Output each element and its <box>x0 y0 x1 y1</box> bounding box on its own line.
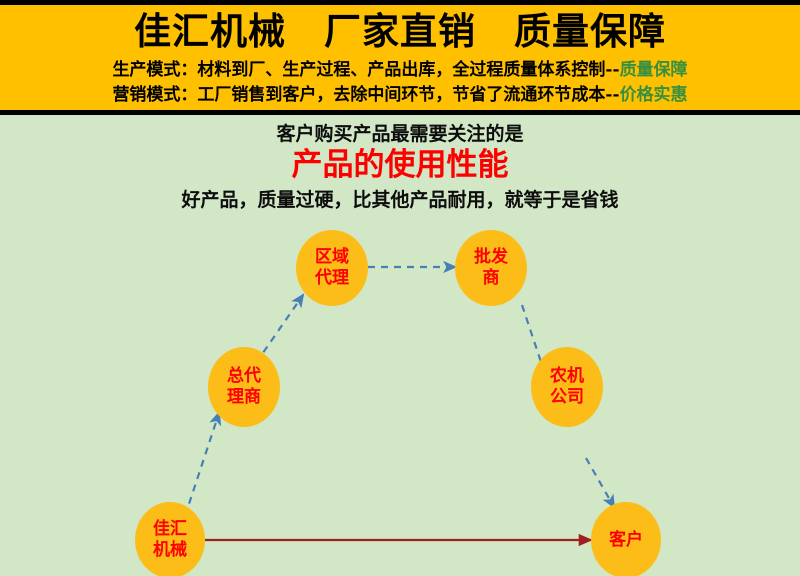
sub-line: 好产品，质量过硬，比其他产品耐用，就等于是省钱 <box>0 188 800 213</box>
node-jiahui-machine[interactable]: 佳汇 机械 <box>135 502 205 576</box>
node-jiahui-machine-line1: 佳汇 <box>153 519 187 540</box>
header-banner: 佳汇机械 厂家直销 质量保障 生产模式：材料到厂、生产过程、产品出库，全过程质量… <box>0 0 800 115</box>
banner-subtitle-marketing-main: 营销模式：工厂销售到客户，去除中间环节，节省了流通环节成本-- <box>112 85 619 105</box>
banner-subtitle-production-main: 生产模式：材料到厂、生产过程、产品出库，全过程质量体系控制-- <box>112 60 619 80</box>
node-general-agent-line2: 理商 <box>227 387 261 408</box>
banner-subtitle-production-accent: 质量保障 <box>620 60 688 80</box>
node-regional-agent[interactable]: 区域 代理 <box>296 230 368 306</box>
banner-subtitle-production: 生产模式：材料到厂、生产过程、产品出库，全过程质量体系控制--质量保障 <box>0 59 800 81</box>
node-machinery-co[interactable]: 农机 公司 <box>531 347 603 427</box>
node-jiahui-machine-line2: 机械 <box>153 540 187 561</box>
edge-jiahui-to-general-agent <box>185 413 219 516</box>
node-wholesaler[interactable]: 批发 商 <box>455 230 527 306</box>
banner-subtitle-marketing: 营销模式：工厂销售到客户，去除中间环节，节省了流通环节成本--价格实惠 <box>0 84 800 106</box>
banner-subtitle-marketing-accent: 价格实惠 <box>620 85 688 105</box>
distribution-chain-diagram: 性价比 区域 代理 批发 商 总代 理商 农机 公司 佳汇 机械 客户 直接到客… <box>0 215 800 576</box>
diagram-edges <box>0 215 800 576</box>
highlight-line: 产品的使用性能 <box>0 146 800 184</box>
lead-line: 客户购买产品最需要关注的是 <box>0 122 800 146</box>
edge-machinery-co-to-customer <box>586 458 614 507</box>
node-regional-agent-line1: 区域 <box>315 247 349 268</box>
node-customer-line1: 客户 <box>609 530 643 551</box>
node-wholesaler-line2: 商 <box>483 268 500 289</box>
node-customer[interactable]: 客户 <box>591 502 661 576</box>
node-general-agent[interactable]: 总代 理商 <box>208 347 280 427</box>
node-machinery-co-line1: 农机 <box>550 366 584 387</box>
node-general-agent-line1: 总代 <box>227 366 261 387</box>
poster-page: 佳汇机械 厂家直销 质量保障 生产模式：材料到厂、生产过程、产品出库，全过程质量… <box>0 0 800 576</box>
node-wholesaler-line1: 批发 <box>474 247 508 268</box>
node-machinery-co-line2: 公司 <box>550 387 584 408</box>
banner-title: 佳汇机械 厂家直销 质量保障 <box>0 10 800 54</box>
node-regional-agent-line2: 代理 <box>315 268 349 289</box>
